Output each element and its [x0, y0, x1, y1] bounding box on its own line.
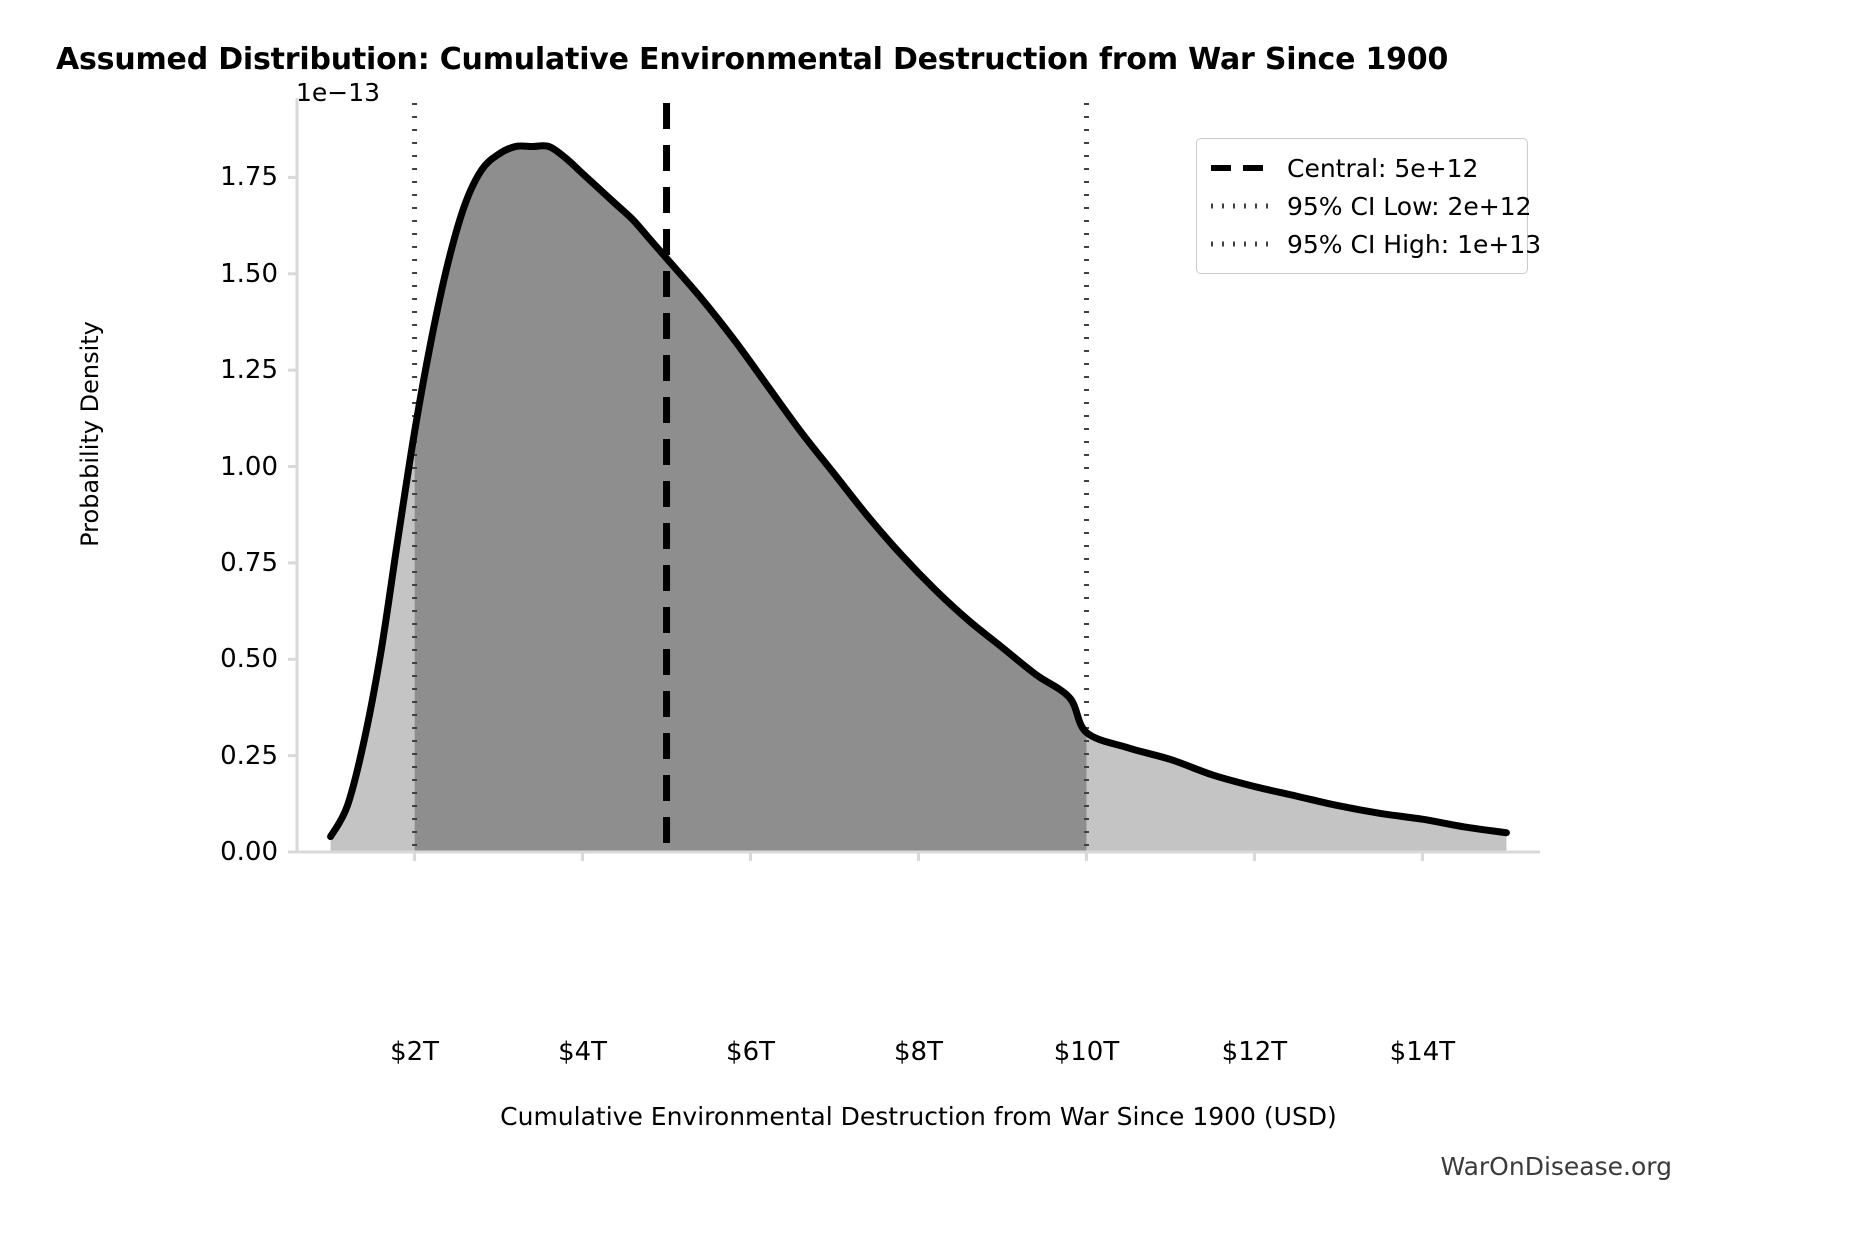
x-tick-label: $12T [1222, 1037, 1288, 1067]
chart-figure: Assumed Distribution: Cumulative Environ… [0, 0, 1868, 1234]
x-tick-label: $4T [558, 1037, 607, 1067]
y-tick-label: 1.00 [38, 452, 278, 482]
chart-legend: Central: 5e+12 95% CI Low: 2e+12 95% CI … [1196, 138, 1528, 274]
y-tick-label: 0.50 [38, 644, 278, 674]
x-tick-label: $10T [1054, 1037, 1120, 1067]
y-tick-label: 1.25 [38, 355, 278, 385]
y-tick-label: 1.50 [38, 259, 278, 289]
y-tick-label: 0.25 [38, 741, 278, 771]
legend-swatch-dotted-high [1209, 234, 1271, 254]
legend-label-ci-low: 95% CI Low: 2e+12 [1287, 192, 1532, 221]
legend-item-central[interactable]: Central: 5e+12 [1209, 149, 1515, 187]
y-axis-ticks: 0.000.250.500.751.001.251.501.75 [16, 0, 278, 1234]
credit-label: WarOnDisease.org [1440, 1152, 1672, 1181]
legend-item-ci-high[interactable]: 95% CI High: 1e+13 [1209, 225, 1515, 263]
legend-label-ci-high: 95% CI High: 1e+13 [1287, 230, 1541, 259]
legend-label-central: Central: 5e+12 [1287, 154, 1478, 183]
legend-swatch-dashed [1209, 158, 1271, 178]
x-tick-label: $14T [1390, 1037, 1456, 1067]
y-tick-label: 0.75 [38, 548, 278, 578]
x-tick-label: $2T [390, 1037, 439, 1067]
x-tick-label: $8T [894, 1037, 943, 1067]
legend-swatch-dotted-low [1209, 196, 1271, 216]
legend-item-ci-low[interactable]: 95% CI Low: 2e+12 [1209, 187, 1515, 225]
x-axis-label: Cumulative Environmental Destruction fro… [297, 1102, 1540, 1131]
y-tick-label: 0.00 [38, 837, 278, 867]
x-tick-label: $6T [726, 1037, 775, 1067]
y-tick-label: 1.75 [38, 162, 278, 192]
